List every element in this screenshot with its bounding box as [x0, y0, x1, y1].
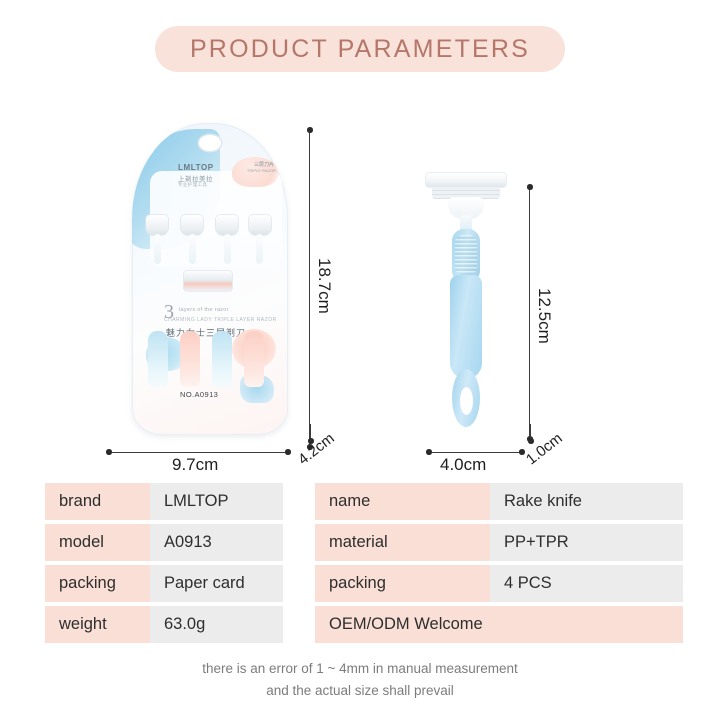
- spec-key-material: material: [315, 524, 490, 561]
- package-height-line: [309, 130, 310, 447]
- package-layers-caption: layers of the razor: [179, 307, 229, 313]
- table-row: packing 4 PCS: [315, 565, 683, 602]
- razor-handle: [244, 331, 264, 387]
- package-width-label: 9.7cm: [172, 455, 218, 475]
- package-width-line: [110, 452, 288, 453]
- spec-oem-odm-note: OEM/ODM Welcome: [315, 606, 683, 643]
- spec-key-brand: brand: [45, 483, 150, 520]
- table-row: material PP+TPR: [315, 524, 683, 561]
- spec-value-name: Rake knife: [490, 483, 683, 520]
- disclaimer-line-2: and the actual size shall prevail: [0, 680, 720, 702]
- razor-depth-dot: [528, 438, 534, 444]
- table-row: packing Paper card: [45, 565, 283, 602]
- disclaimer-line-1: there is an error of 1 ~ 4mm in manual m…: [0, 658, 720, 680]
- package-brand-label: LMLTOP: [178, 163, 214, 172]
- spec-table-left: brand LMLTOP model A0913 packing Paper c…: [45, 483, 283, 647]
- razor-width-label: 4.0cm: [440, 455, 486, 475]
- package-blade-heads: [146, 215, 274, 261]
- table-row: brand LMLTOP: [45, 483, 283, 520]
- spec-key-name: name: [315, 483, 490, 520]
- package-center-blade: [184, 271, 232, 291]
- razor-guard-bar: [426, 173, 506, 187]
- package-width-dot-left: [106, 449, 112, 455]
- package-badge-line1: 三层刀片: [254, 161, 274, 168]
- package-height-dot-top: [307, 127, 313, 133]
- spec-value-material: PP+TPR: [490, 524, 683, 561]
- razor-handle: [212, 331, 232, 387]
- measurement-disclaimer: there is an error of 1 ~ 4mm in manual m…: [0, 658, 720, 702]
- page-title-banner: PRODUCT PARAMETERS: [155, 26, 565, 72]
- package-handles: [148, 331, 272, 387]
- razor-product-image: [424, 173, 508, 435]
- razor-handle: [180, 331, 200, 387]
- blade-neck: [189, 234, 196, 264]
- spec-value-packing: Paper card: [150, 565, 283, 602]
- razor-width-line: [430, 452, 522, 453]
- table-row: weight 63.0g: [45, 606, 283, 643]
- razor-width-dot-left: [426, 449, 432, 455]
- spec-value-packing: 4 PCS: [490, 565, 683, 602]
- spec-value-brand: LMLTOP: [150, 483, 283, 520]
- blade-neck: [224, 234, 231, 264]
- spec-value-weight: 63.0g: [150, 606, 283, 643]
- package-width-dot-right: [285, 449, 291, 455]
- razor-height-label: 12.5cm: [534, 288, 554, 344]
- blade-head: [216, 215, 238, 235]
- razor-grip-ridges: [455, 235, 477, 275]
- razor-handle: [148, 331, 168, 387]
- package-shell: 三层刀片 TRIPLE RAZOR LMLTOP 上剃拉美拉 专业护理工具 3: [132, 123, 288, 435]
- spec-key-model: model: [45, 524, 150, 561]
- blade-neck: [154, 234, 161, 264]
- table-row: name Rake knife: [315, 483, 683, 520]
- razor-handle-body: [450, 275, 482, 379]
- package-hang-hole: [199, 135, 221, 151]
- spec-table-right: name Rake knife material PP+TPR packing …: [315, 483, 683, 643]
- product-parameters-page: PRODUCT PARAMETERS 三层刀片 TRIPLE RAZOR LML…: [0, 0, 720, 720]
- package-model-number: NO.A0913: [180, 390, 218, 399]
- razor-height-line: [529, 187, 530, 439]
- package-brand-subtitle: 专业护理工具: [178, 182, 207, 188]
- package-height-label: 18.7cm: [314, 258, 334, 314]
- product-image-stage: 三层刀片 TRIPLE RAZOR LMLTOP 上剃拉美拉 专业护理工具 3: [0, 95, 720, 475]
- page-title: PRODUCT PARAMETERS: [190, 35, 530, 64]
- blade-head: [181, 215, 203, 235]
- blade-neck: [256, 234, 263, 264]
- blister-package-image: 三层刀片 TRIPLE RAZOR LMLTOP 上剃拉美拉 专业护理工具 3: [132, 123, 288, 435]
- spec-key-packing: packing: [315, 565, 490, 602]
- blade-head: [249, 215, 271, 235]
- table-row: model A0913: [45, 524, 283, 561]
- spec-value-model: A0913: [150, 524, 283, 561]
- razor-height-dot-top: [527, 184, 533, 190]
- spec-key-weight: weight: [45, 606, 150, 643]
- blade-head: [146, 215, 168, 235]
- package-english-name: CHARMING LADY TRIPLE LAYER RAZOR: [164, 317, 277, 323]
- razor-loop-hole: [460, 387, 473, 415]
- spec-key-packing: packing: [45, 565, 150, 602]
- package-badge-line2: TRIPLE RAZOR: [247, 168, 276, 173]
